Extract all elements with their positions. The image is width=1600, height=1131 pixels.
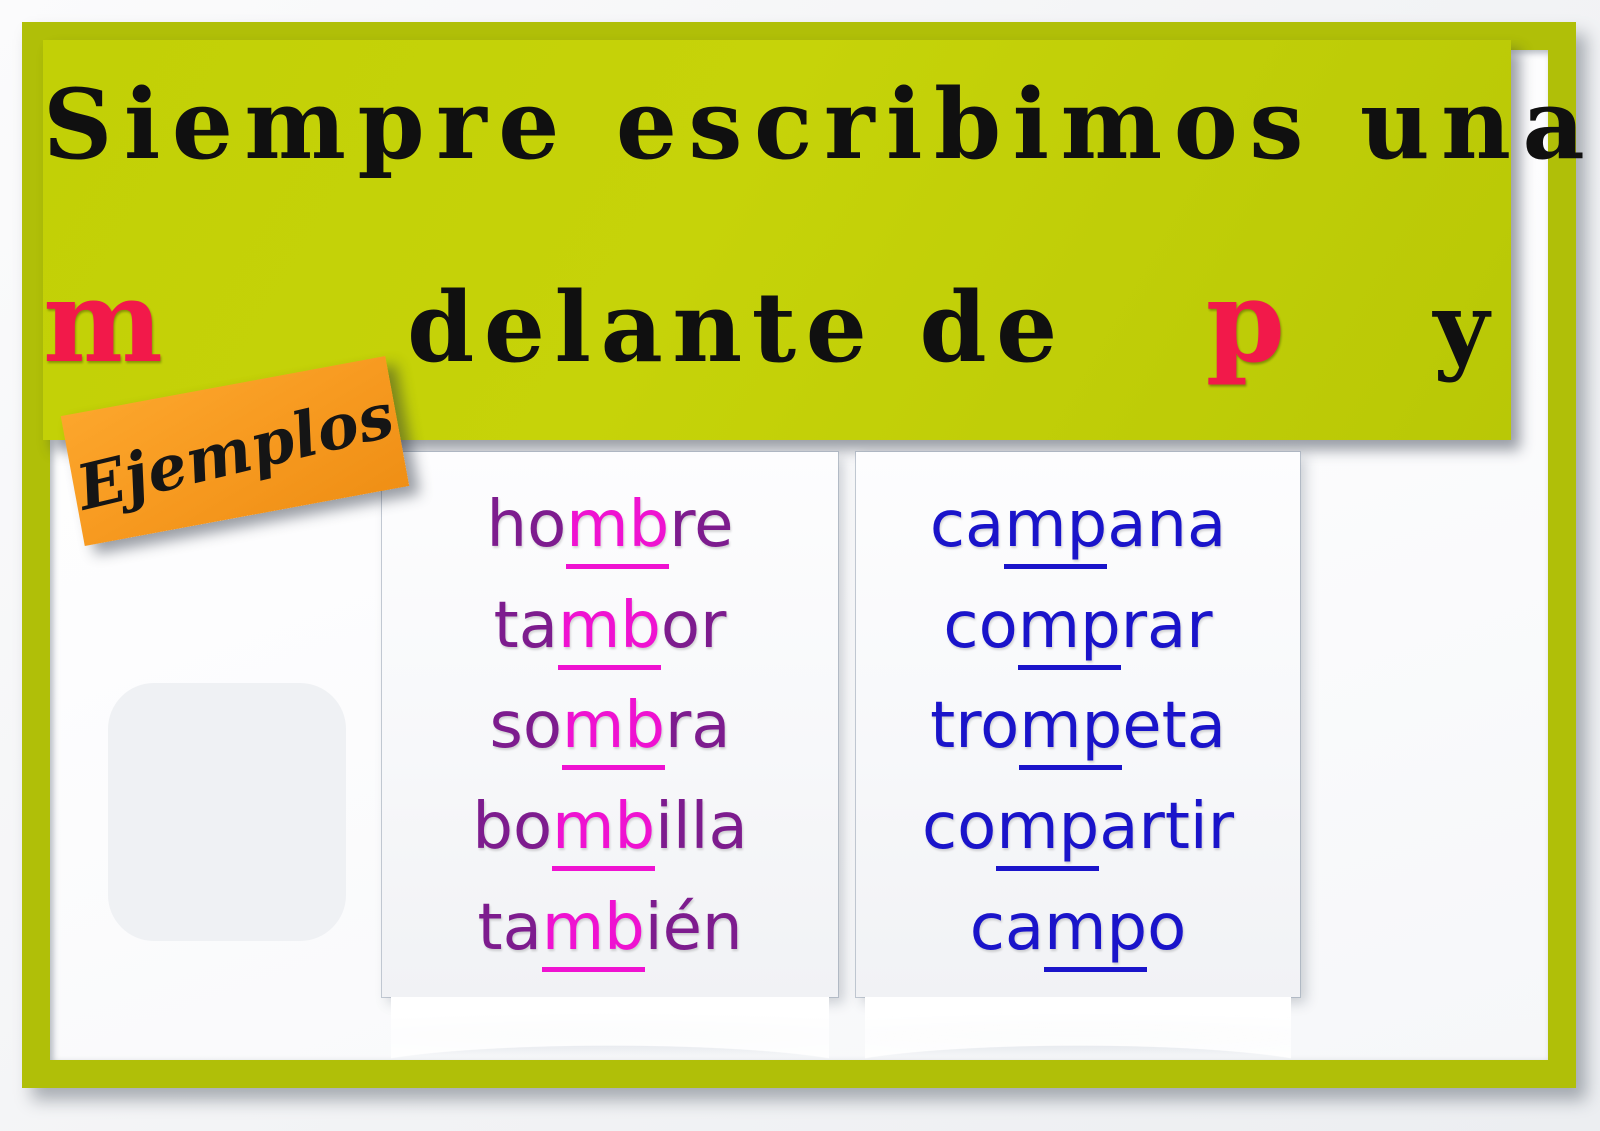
word-page-mb: hombretamborsombrabombillatambién	[382, 452, 838, 997]
word-suffix: or	[661, 589, 726, 663]
word-highlight: mp	[996, 790, 1099, 871]
word-highlight: mp	[1004, 488, 1107, 569]
example-word: compartir	[922, 795, 1234, 859]
word-highlight: mp	[1018, 589, 1121, 670]
title-letter-p: p	[1206, 255, 1295, 388]
title-line-2: m delante de p y b.	[43, 255, 1511, 388]
word-suffix: illa	[655, 790, 748, 864]
word-prefix: ca	[930, 488, 1004, 562]
word-list-mp: campanacomprartrompetacompartircampo	[856, 452, 1300, 997]
example-word: comprar	[943, 594, 1212, 658]
word-suffix: eta	[1122, 689, 1226, 763]
word-suffix: ién	[645, 891, 743, 965]
poster-root: Siempre escribimos una m delante de p y …	[0, 0, 1600, 1131]
word-prefix: ta	[494, 589, 558, 663]
word-highlight: mb	[542, 891, 645, 972]
word-highlight: mp	[1044, 891, 1147, 972]
word-highlight: mb	[552, 790, 655, 871]
title-line-1: Siempre escribimos una	[43, 68, 1511, 181]
word-suffix: ra	[665, 689, 731, 763]
word-suffix: rar	[1121, 589, 1213, 663]
word-highlight: mb	[562, 689, 665, 770]
example-word: tambor	[494, 594, 727, 658]
example-word: campo	[970, 896, 1187, 960]
word-suffix: artir	[1099, 790, 1234, 864]
example-word: bombilla	[472, 795, 747, 859]
word-suffix: ana	[1107, 488, 1226, 562]
word-prefix: ca	[970, 891, 1044, 965]
word-page-mp: campanacomprartrompetacompartircampo	[856, 452, 1300, 997]
word-prefix: tro	[930, 689, 1019, 763]
word-prefix: ta	[478, 891, 542, 965]
word-prefix: ho	[487, 488, 567, 562]
word-suffix: o	[1147, 891, 1186, 965]
example-word: hombre	[487, 493, 734, 557]
word-suffix: re	[669, 488, 733, 562]
word-highlight: mb	[566, 488, 669, 569]
title-conjunction-y: y	[1433, 271, 1498, 384]
word-highlight: mp	[1019, 689, 1122, 770]
word-prefix: co	[922, 790, 996, 864]
example-word: sombra	[490, 694, 731, 758]
word-prefix: so	[490, 689, 563, 763]
title-text-delante-de: delante de	[407, 271, 1067, 384]
watermark-shape	[108, 683, 346, 941]
word-highlight: mb	[558, 589, 661, 670]
title-letter-m: m	[43, 255, 172, 388]
example-word: trompeta	[930, 694, 1226, 758]
example-word: también	[478, 896, 743, 960]
word-prefix: bo	[472, 790, 552, 864]
word-list-mb: hombretamborsombrabombillatambién	[382, 452, 838, 997]
example-word: campana	[930, 493, 1226, 557]
word-prefix: co	[943, 589, 1017, 663]
